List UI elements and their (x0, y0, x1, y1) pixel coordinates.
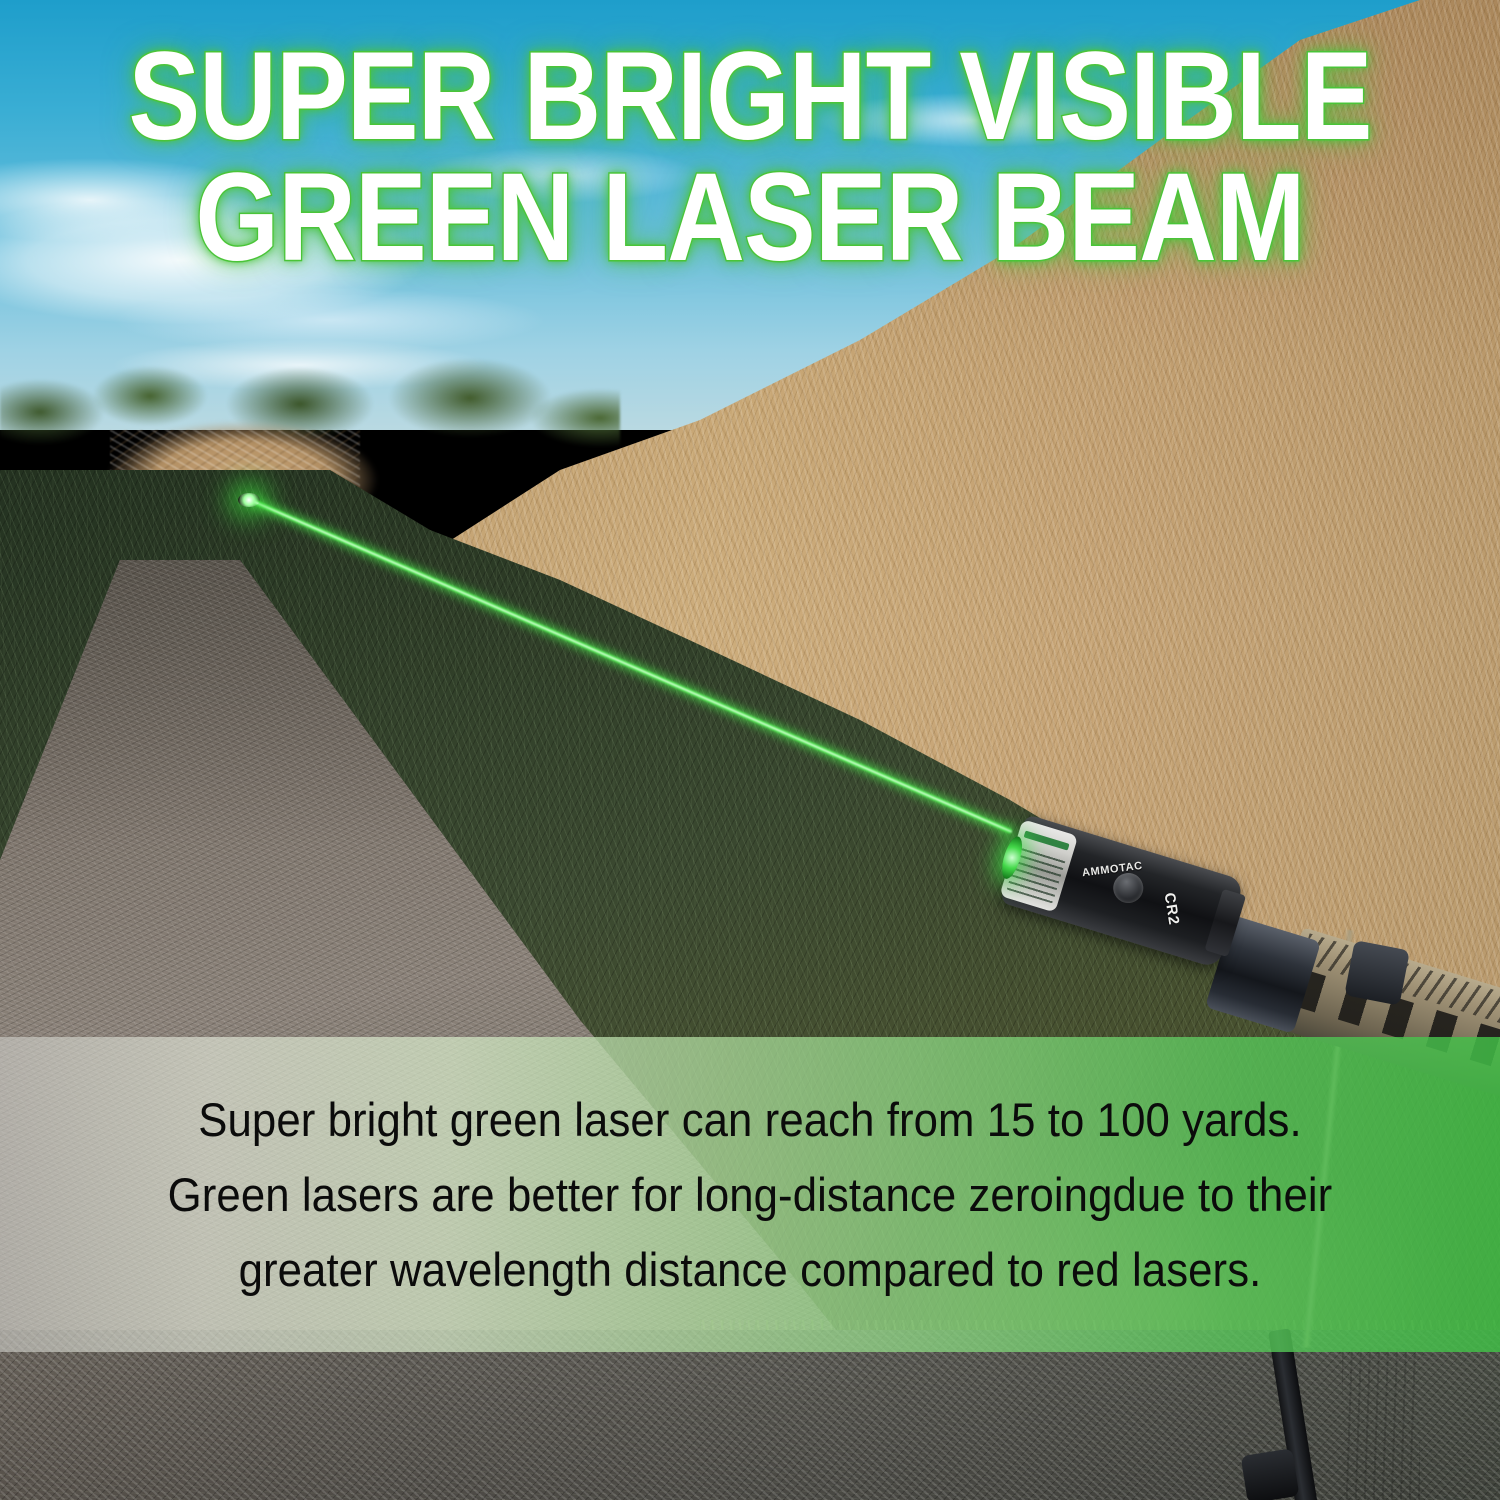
headline-line-2: GREEN LASER BEAM (105, 157, 1395, 278)
laser-bore-sighter-body: AMMOTAC CR2 (1000, 814, 1245, 969)
bipod-foot (1241, 1448, 1300, 1500)
laser-battery-marking: CR2 (1161, 891, 1183, 926)
caption-overlay: Super bright green laser can reach from … (0, 1037, 1500, 1352)
caption-line-2: Green lasers are better for long-distanc… (53, 1171, 1448, 1218)
headline-block: SUPER BRIGHT VISIBLE GREEN LASER BEAM (0, 0, 1500, 279)
handguard-clamp (1344, 940, 1410, 1006)
promo-image-canvas: AMMOTAC CR2 SUPER BRIGHT VISIBLE GREEN L… (0, 0, 1500, 1500)
caption-line-3: greater wavelength distance compared to … (53, 1246, 1448, 1293)
headline-line-1: SUPER BRIGHT VISIBLE (105, 36, 1395, 157)
wooden-post (1342, 1348, 1420, 1500)
caption-line-1: Super bright green laser can reach from … (53, 1096, 1448, 1143)
